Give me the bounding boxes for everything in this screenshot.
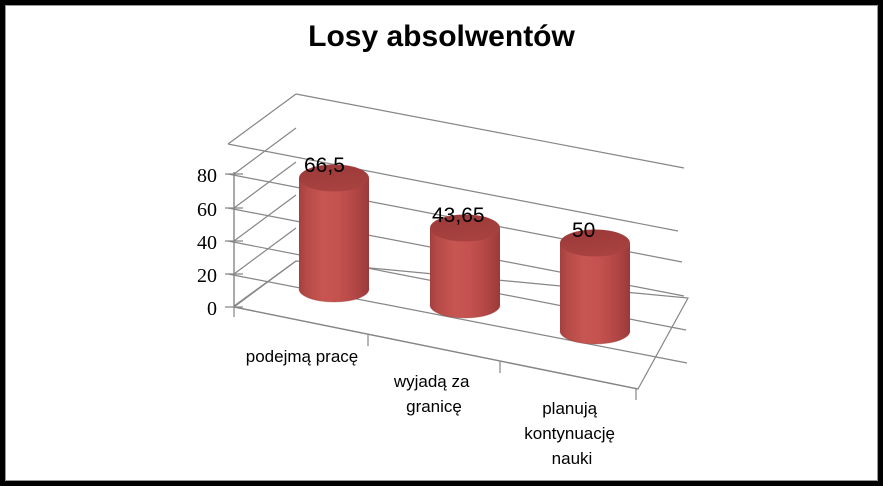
chart-plot-area: 80 60 40 20 0 66,5 43,65 (6, 6, 879, 482)
category-label-1-line-0: wyjadą za (393, 372, 470, 391)
chart-inner-border: Losy absolwentów (5, 5, 878, 481)
bar-cylinder-1[interactable]: 43,65 (430, 204, 500, 318)
y-tick-label-20: 20 (197, 265, 217, 287)
sidewall-diagonal-40 (234, 195, 296, 241)
wall-top-edge (296, 94, 684, 168)
y-tick-label-40: 40 (197, 232, 217, 254)
category-label-2-line-2: nauki (552, 449, 593, 468)
bar-0-value-label: 66,5 (304, 154, 345, 177)
category-label-2-line-0: planują (542, 399, 597, 418)
y-tick-label-80: 80 (197, 165, 217, 187)
category-label-2: planują kontynuację nauki (524, 399, 619, 468)
category-label-0-line-0: podejmą pracę (246, 347, 358, 366)
bar-2-value-label: 50 (572, 219, 595, 242)
bar-cylinder-0[interactable]: 66,5 (299, 154, 369, 302)
y-axis-tick-labels: 80 60 40 20 0 (197, 165, 217, 320)
category-label-1-line-1: granicę (406, 397, 462, 416)
y-tick-label-60: 60 (197, 199, 217, 221)
wall-left-diagonal-top (228, 94, 296, 144)
bar-cylinder-2[interactable]: 50 (560, 219, 630, 344)
bar-0-body (299, 178, 369, 302)
bar-1-value-label: 43,65 (432, 204, 485, 227)
bar-2-body (560, 243, 630, 344)
chart-frame: Losy absolwentów (0, 0, 883, 486)
sidewall-diagonal-80 (234, 128, 296, 174)
y-tick-label-0: 0 (207, 298, 217, 320)
category-label-2-line-1: kontynuację (524, 424, 615, 443)
category-label-1: wyjadą za granicę (393, 372, 474, 416)
category-label-0: podejmą pracę (246, 347, 358, 366)
x-axis-category-labels: podejmą pracę wyjadą za granicę planują … (246, 347, 620, 468)
